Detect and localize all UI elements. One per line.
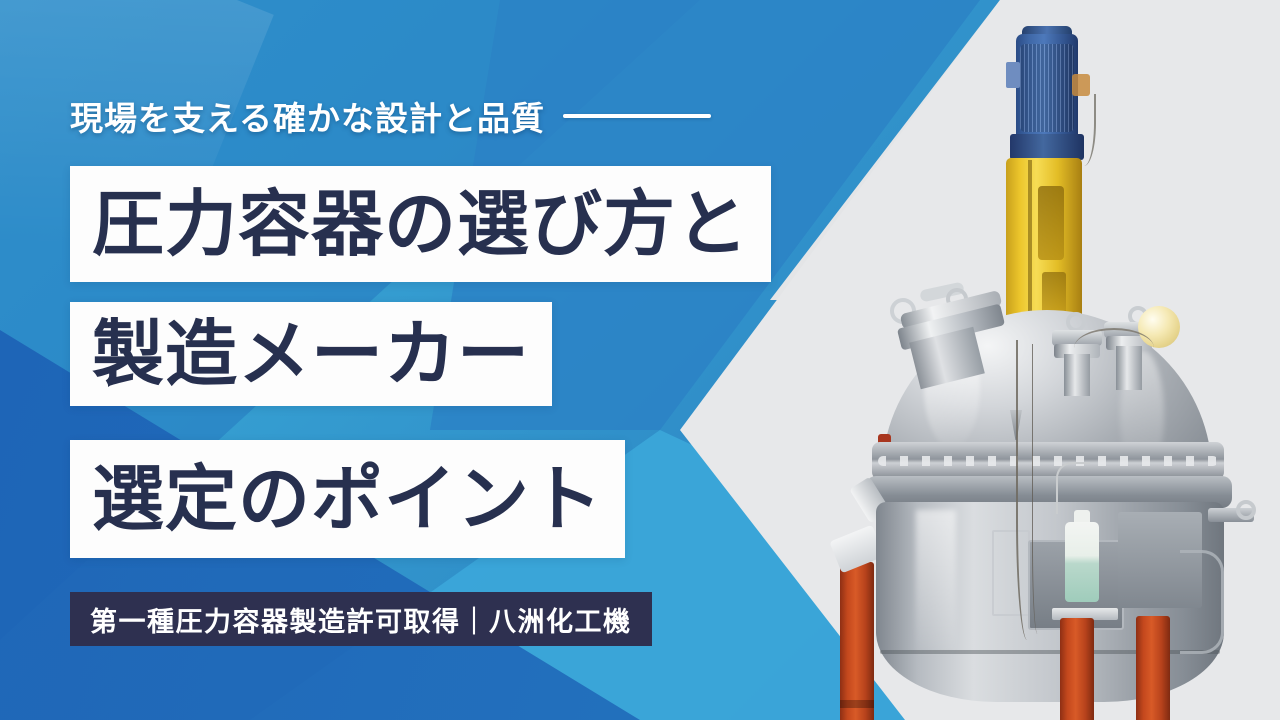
headline-box-3: 選定のポイント <box>70 440 625 558</box>
headline-box-2: 製造メーカー <box>70 302 552 406</box>
hero-content: 現場を支える確かな設計と品質 圧力容器の選び方と 製造メーカー 選定のポイント … <box>0 0 1280 720</box>
headline-line-3: 選定のポイント <box>92 463 603 535</box>
kicker: 現場を支える確かな設計と品質 <box>70 92 711 140</box>
kicker-text: 現場を支える確かな設計と品質 <box>70 92 545 140</box>
headline-box-1: 圧力容器の選び方と <box>70 166 771 282</box>
headline-line-2: 製造メーカー <box>92 318 530 390</box>
headline-line-1: 圧力容器の選び方と <box>92 188 749 260</box>
certification-badge-text: 第一種圧力容器製造許可取得｜八洲化工機 <box>90 600 632 639</box>
certification-badge: 第一種圧力容器製造許可取得｜八洲化工機 <box>70 592 652 646</box>
kicker-rule-icon <box>563 114 711 118</box>
hero-banner: 現場を支える確かな設計と品質 圧力容器の選び方と 製造メーカー 選定のポイント … <box>0 0 1280 720</box>
